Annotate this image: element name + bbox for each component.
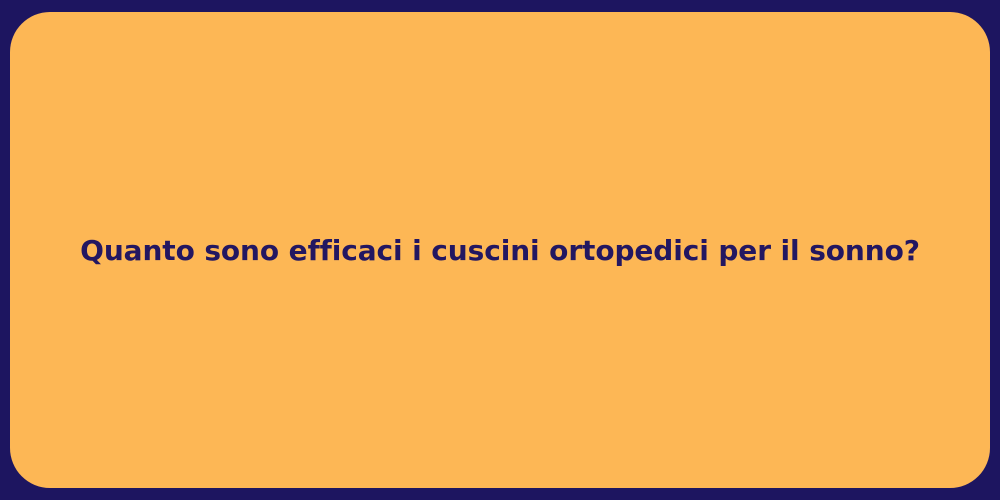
question-card-panel: Quanto sono efficaci i cuscini ortopedic… <box>10 12 990 488</box>
page-title: Quanto sono efficaci i cuscini ortopedic… <box>10 233 990 268</box>
question-card: Quanto sono efficaci i cuscini ortopedic… <box>0 0 1000 500</box>
